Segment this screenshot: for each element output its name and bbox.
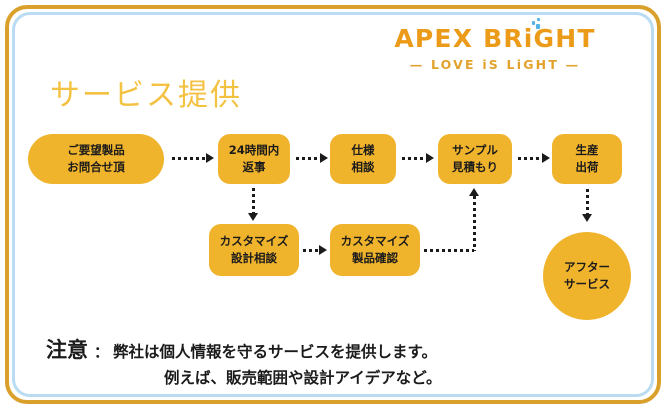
- flow-node-after-service: アフター サービス: [543, 232, 631, 320]
- arrowhead-custom-confirm-to-sample: [469, 188, 479, 196]
- arrowhead-reply-to-custom-design: [248, 213, 258, 221]
- flow-node-spec-consult-line2: 相談: [352, 159, 375, 176]
- connector-production-to-after-service: [586, 189, 589, 215]
- brand-sparkle-icon: [530, 18, 544, 30]
- flow-node-production-line1: 生産: [576, 142, 599, 159]
- flow-node-reply-24h: 24時間内 返事: [218, 134, 290, 184]
- page-title: サービス提供: [50, 70, 242, 114]
- flow-node-production: 生産 出荷: [552, 134, 622, 184]
- flow-node-sample-quote: サンプル 見積もり: [438, 134, 512, 184]
- arrowhead-spec-to-sample: [426, 153, 434, 163]
- flow-node-custom-design-line1: カスタマイズ: [220, 233, 289, 250]
- note-first-row: 注意 ： 弊社は個人情報を守るサービスを提供します。: [46, 334, 606, 364]
- flow-node-request: ご要望製品 お問合せ頂: [28, 134, 164, 184]
- note-block: 注意 ： 弊社は個人情報を守るサービスを提供します。 例えば、販売範囲や設計アイ…: [46, 334, 606, 388]
- flow-node-after-service-line1: アフター: [564, 259, 610, 276]
- flow-node-custom-confirm: カスタマイズ 製品確認: [330, 224, 420, 276]
- flow-node-request-line2: お問合せ頂: [67, 159, 125, 176]
- arrowhead-production-to-after-service: [582, 214, 592, 222]
- brand-logo: APEX BRiGHT — LOVE iS LiGHT —: [380, 26, 610, 72]
- connector-reply-to-custom-design: [252, 188, 255, 214]
- brand-logo-wordmark: APEX BRiGHT: [394, 26, 595, 51]
- flow-node-after-service-line2: サービス: [564, 276, 610, 293]
- flow-node-request-line1: ご要望製品: [67, 142, 125, 159]
- note-line-2: 例えば、販売範囲や設計アイデアなど。: [164, 366, 606, 388]
- flow-node-sample-quote-line2: 見積もり: [452, 159, 498, 176]
- brand-tagline: — LOVE iS LiGHT —: [380, 57, 610, 72]
- flow-node-custom-confirm-line1: カスタマイズ: [341, 233, 410, 250]
- note-label: 注意: [46, 334, 88, 364]
- flow-node-sample-quote-line1: サンプル: [452, 142, 498, 159]
- flow-node-reply-24h-line2: 返事: [243, 159, 266, 176]
- flow-node-custom-design: カスタマイズ 設計相談: [209, 224, 299, 276]
- flow-node-spec-consult: 仕様 相談: [330, 134, 396, 184]
- arrowhead-request-to-reply: [206, 153, 214, 163]
- note-colon: ：: [88, 341, 113, 362]
- connector-spec-to-sample: [402, 157, 426, 160]
- connector-sample-to-production: [518, 157, 542, 160]
- connector-custom-confirm-to-sample-horizontal: [424, 249, 474, 252]
- arrowhead-custom-design-to-confirm: [319, 245, 327, 255]
- note-line-1: 弊社は個人情報を守るサービスを提供します。: [113, 340, 437, 362]
- connector-reply-to-spec: [296, 157, 320, 160]
- flow-node-production-line2: 出荷: [576, 159, 599, 176]
- flow-node-custom-design-line2: 設計相談: [231, 250, 277, 267]
- flow-node-reply-24h-line1: 24時間内: [229, 142, 280, 159]
- connector-custom-design-to-confirm: [303, 249, 319, 252]
- flow-node-custom-confirm-line2: 製品確認: [352, 250, 398, 267]
- flow-node-spec-consult-line1: 仕様: [352, 142, 375, 159]
- arrowhead-reply-to-spec: [320, 153, 328, 163]
- connector-custom-confirm-to-sample-vertical: [473, 196, 476, 251]
- service-flow-slide: APEX BRiGHT — LOVE iS LiGHT — サービス提供 ご要望…: [0, 0, 666, 409]
- arrowhead-sample-to-production: [542, 153, 550, 163]
- connector-request-to-reply: [172, 157, 206, 160]
